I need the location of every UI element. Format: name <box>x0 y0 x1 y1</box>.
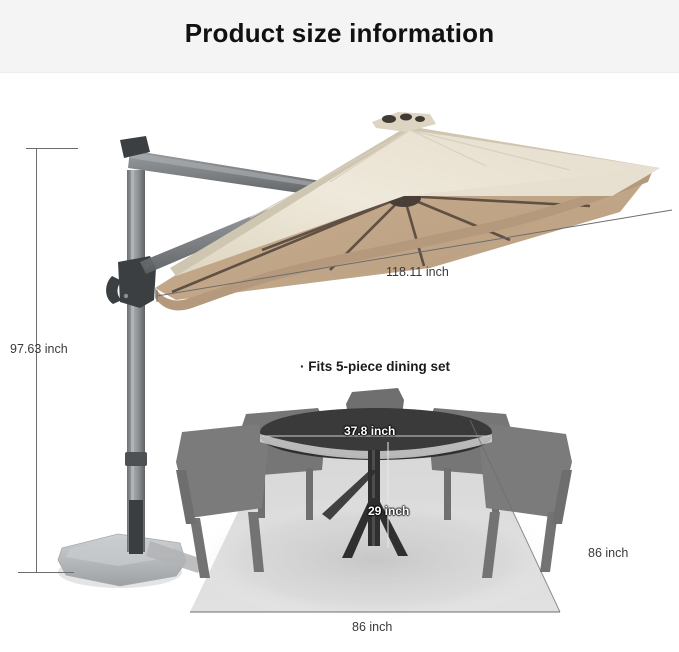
height-rule <box>36 148 37 572</box>
umbrella-pole <box>106 170 156 554</box>
canopy-span-label: 118.11 inch <box>386 265 449 279</box>
umbrella-canopy <box>155 112 660 310</box>
product-size-infographic: Product size information <box>0 0 679 652</box>
table-diameter-label: 37.8 inch <box>344 424 395 438</box>
floor-width-label: 86 inch <box>352 620 392 634</box>
table-height-label: 29 inch <box>368 504 409 518</box>
umbrella-height-label: 97.63 inch <box>10 342 68 356</box>
height-tick-top <box>26 148 78 149</box>
product-illustration <box>0 0 679 652</box>
floor-depth-label: 86 inch <box>588 546 628 560</box>
height-tick-bottom <box>18 572 74 573</box>
fits-dining-set-note: · Fits 5-piece dining set <box>300 359 450 374</box>
